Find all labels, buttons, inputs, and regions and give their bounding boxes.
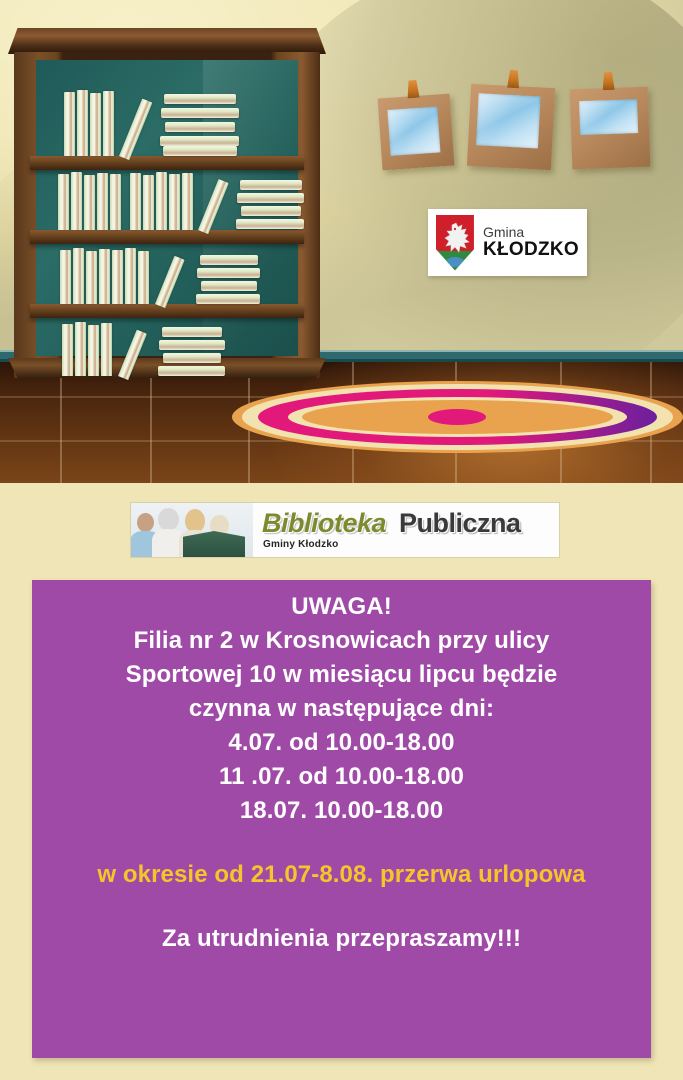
book — [77, 90, 88, 156]
book-stacked — [163, 353, 221, 363]
oval-rug — [232, 381, 683, 453]
book — [99, 249, 110, 304]
gmina-label: Gmina — [483, 225, 579, 240]
banner-subtitle: Gminy Kłodzko — [263, 539, 338, 550]
gmina-klodzko-logo: Gmina KŁODZKO — [428, 209, 587, 276]
gmina-logo-text: Gmina KŁODZKO — [483, 225, 579, 260]
frame-glass — [476, 93, 541, 148]
book-stacked — [240, 180, 302, 190]
book — [86, 251, 97, 304]
book-tilted — [155, 256, 185, 308]
picture-frame-center — [467, 84, 555, 170]
lion-rampant-icon — [443, 221, 475, 257]
bookcase-shelf — [30, 304, 304, 318]
picture-frame-right — [570, 87, 651, 170]
rug-center-dot — [428, 409, 486, 425]
book — [130, 173, 141, 230]
book-stacked — [200, 255, 258, 265]
notice-line-holiday-break: w okresie od 21.07-8.08. przerwa urlopow… — [32, 858, 651, 892]
floor-plank-line — [60, 362, 62, 483]
book — [75, 322, 86, 376]
klodzko-label: KŁODZKO — [483, 240, 579, 260]
book-stacked — [159, 340, 225, 350]
bookshelf-row-2 — [58, 170, 302, 230]
hero-illustration: Gmina KŁODZKO — [0, 0, 683, 483]
book — [156, 172, 167, 230]
frame-glass — [387, 106, 440, 155]
book-stacked — [201, 281, 257, 291]
book-stacked — [162, 327, 222, 337]
notice-line-address-1: Filia nr 2 w Krosnowicach przy ulicy — [32, 624, 651, 658]
book — [97, 173, 108, 230]
banner-word-publiczna: Publiczna — [399, 508, 521, 539]
bookcase-shelf — [30, 156, 304, 170]
book-tilted — [118, 330, 147, 380]
notice-spacer — [32, 892, 651, 922]
book — [138, 251, 149, 304]
book-stacked — [236, 219, 304, 229]
bookcase — [8, 28, 326, 378]
notice-line-date-2: 11 .07. od 10.00-18.00 — [32, 760, 651, 794]
frame-shine — [387, 106, 440, 155]
book-stacked — [196, 294, 260, 304]
bookshelf-row-3 — [60, 246, 300, 304]
book — [112, 250, 123, 304]
book-stacked — [163, 146, 237, 156]
notice-line-address-2: Sportowej 10 w miesiącu lipcu będzie — [32, 658, 651, 692]
book — [73, 248, 84, 304]
frame-shine — [476, 93, 541, 148]
notice-line-apology: Za utrudnienia przepraszamy!!! — [32, 922, 651, 956]
announcement-box: UWAGA! Filia nr 2 w Krosnowicach przy ul… — [32, 580, 651, 1058]
frame-glass — [579, 99, 638, 135]
notice-line-date-3: 18.07. 10.00-18.00 — [32, 794, 651, 828]
notice-line-heading: UWAGA! — [32, 590, 651, 624]
book — [62, 324, 73, 376]
person-head — [137, 513, 154, 532]
bookcase-cornice — [8, 28, 326, 54]
book-tilted — [198, 179, 229, 234]
book — [60, 250, 71, 304]
picture-frame-left — [378, 94, 455, 171]
notice-spacer — [32, 828, 651, 858]
klodzko-coat-of-arms-icon — [436, 215, 474, 271]
frame-shine — [579, 99, 638, 135]
book — [103, 91, 114, 156]
book — [88, 325, 99, 376]
book-stacked — [161, 108, 239, 118]
book-stacked — [237, 193, 304, 203]
banner-wordmark: Biblioteka Publiczna Gminy Kłodzko — [253, 503, 559, 557]
bookshelf-row-1 — [64, 88, 294, 156]
biblioteka-publiczna-banner[interactable]: Biblioteka Publiczna Gminy Kłodzko — [131, 503, 559, 557]
book-stacked — [241, 206, 301, 216]
book-stacked — [160, 136, 239, 146]
notice-line-date-1: 4.07. od 10.00-18.00 — [32, 726, 651, 760]
book — [84, 175, 95, 230]
book-stacked — [158, 366, 225, 376]
person-head — [158, 508, 179, 531]
book-stacked — [197, 268, 260, 278]
book — [90, 93, 101, 156]
book — [169, 174, 180, 230]
book — [110, 174, 121, 230]
floor-plank-line — [150, 362, 152, 483]
book — [64, 92, 75, 156]
book — [125, 248, 136, 304]
banner-word-biblioteka: Biblioteka — [262, 508, 386, 539]
notice-line-address-3: czynna w następujące dni: — [32, 692, 651, 726]
book-stacked — [164, 94, 236, 104]
bookshelf-row-4 — [62, 320, 298, 376]
book — [71, 172, 82, 230]
readers-photo — [131, 503, 253, 557]
book-tilted — [119, 99, 152, 161]
book — [58, 174, 69, 230]
book-stacked — [165, 122, 235, 132]
book — [143, 175, 154, 230]
crest-hill — [446, 257, 464, 267]
book — [182, 173, 193, 230]
bookcase-shelf — [30, 230, 304, 244]
book — [101, 323, 112, 376]
